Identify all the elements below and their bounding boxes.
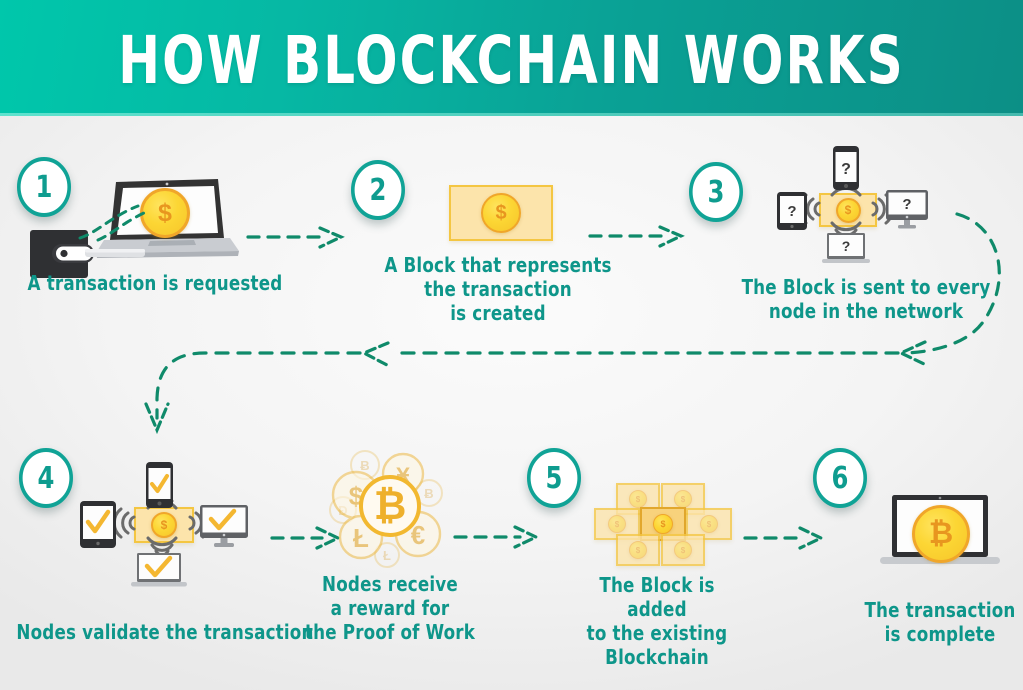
step-badge-2: 2 [351,160,405,220]
svg-text:?: ? [841,161,851,178]
step-badge-6: 6 [813,448,867,508]
header-bottom-edge [0,113,1023,116]
step-badge-6-number: 6 [832,461,849,496]
step-badge-5: 5 [527,448,581,508]
step-caption-6: The transaction is complete [852,598,1023,646]
node-laptop-step3: ? [822,233,870,265]
node-monitor-step3: ? [886,190,928,230]
step-caption-1: A transaction is requested [20,271,290,295]
coin-symbol: $ [636,495,640,504]
svg-text:₿: ₿ [374,484,407,528]
svg-text:Ƀ: Ƀ [360,458,369,473]
transaction-flow-dashes-step1 [78,196,156,242]
step-caption-3: The Block is sent to every node in the n… [727,275,1006,323]
coin-symbol: $ [707,520,711,529]
arrow-step2-to-step3 [590,227,681,246]
block-card-step2: $ [449,185,553,241]
step-badge-4: 4 [19,448,73,508]
block-coin-icon: $ [674,541,692,559]
dollar-coin-icon-step2: $ [481,193,521,233]
coin-symbol: $ [681,546,685,555]
node-phone-step4 [146,462,173,508]
block-coin-icon: $ [608,515,626,533]
svg-text:Ł: Ł [353,523,369,553]
chain-block-bottom-left: $ [616,534,660,566]
svg-text:?: ? [842,238,851,254]
svg-text:Ł: Ł [383,548,391,563]
chain-block-bottom-right: $ [661,534,705,566]
step-caption-5b: The Block is added to the existing Block… [569,573,746,669]
coin-symbol: $ [660,519,665,529]
svg-text:Ƀ: Ƀ [424,486,433,501]
node-laptop-step4 [131,553,187,589]
coin-symbol: ₿ [929,517,953,551]
svg-text:?: ? [787,203,796,220]
coin-symbol: $ [615,520,619,529]
arrow-step1-to-step2 [248,228,341,247]
step-caption-2: A Block that represents the transaction … [382,253,615,325]
coin-symbol: $ [681,495,685,504]
svg-text:?: ? [902,196,911,213]
coin-symbol: $ [158,199,172,228]
infographic-root: HOW BLOCKCHAIN WORKS [0,0,1023,690]
crypto-coin-cluster-icon: ɃÐ ŁɃ $ Ӿ Ł € ₿ [325,448,455,568]
step-badge-3-number: 3 [708,175,725,210]
arrow-step5-to-step5b [455,527,536,547]
step-badge-1: 1 [17,157,71,217]
page-title: HOW BLOCKCHAIN WORKS [82,22,941,99]
step-caption-5: Nodes receive a reward for the Proof of … [302,572,479,644]
block-coin-icon: $ [700,515,718,533]
coin-symbol: $ [495,202,506,225]
step-badge-1-number: 1 [36,170,53,205]
node-monitor-step4 [200,505,248,549]
coin-symbol: $ [636,546,640,555]
block-coin-icon: $ [653,514,673,534]
block-coin-icon: $ [629,490,647,508]
block-coin-icon: $ [674,490,692,508]
step-badge-5-number: 5 [546,461,563,496]
bitcoin-coin-icon-step6: ₿ [912,505,970,563]
step-caption-4: Nodes validate the transaction [16,620,314,644]
arrow-step5b-to-step6 [745,528,821,548]
node-tablet-step3: ? [777,192,807,230]
block-coin-icon: $ [629,541,647,559]
node-phone-step3: ? [833,146,859,190]
node-tablet-step4 [80,501,116,548]
step-badge-2-number: 2 [370,173,387,208]
step-badge-4-number: 4 [38,461,55,496]
step-badge-3: 3 [689,162,743,222]
